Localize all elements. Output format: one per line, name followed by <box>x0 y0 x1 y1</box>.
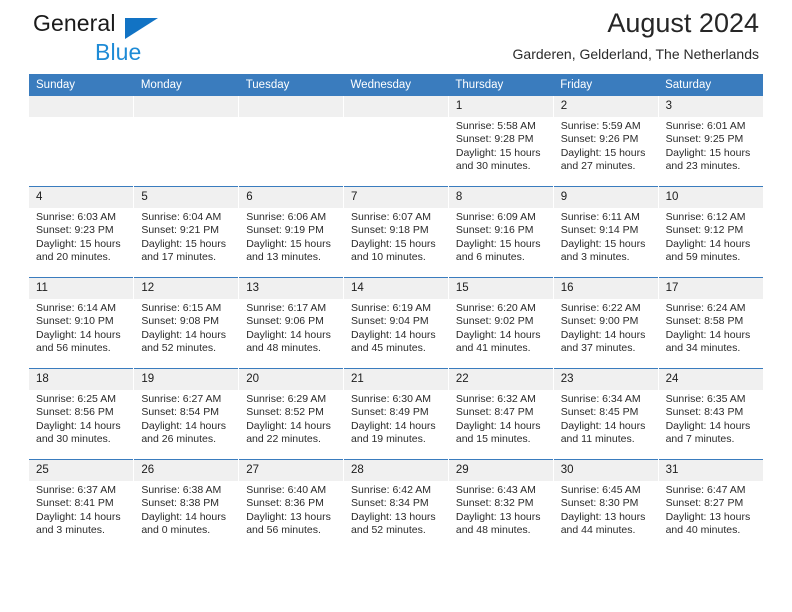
daylight-line-1: Daylight: 15 hours <box>666 147 757 160</box>
calendar-body: 1Sunrise: 5:58 AMSunset: 9:28 PMDaylight… <box>29 96 763 550</box>
sunrise-line: Sunrise: 6:30 AM <box>351 393 442 406</box>
week-row: 1Sunrise: 5:58 AMSunset: 9:28 PMDaylight… <box>29 96 763 187</box>
day-details: Sunrise: 6:06 AMSunset: 9:19 PMDaylight:… <box>239 208 343 265</box>
day-cell[interactable]: 15Sunrise: 6:20 AMSunset: 9:02 PMDayligh… <box>448 278 553 369</box>
day-number: 21 <box>344 369 448 390</box>
sunrise-line: Sunrise: 6:09 AM <box>456 211 547 224</box>
daylight-line-1: Daylight: 15 hours <box>456 147 547 160</box>
sunset-line: Sunset: 8:27 PM <box>666 497 757 510</box>
daylight-line-2: and 20 minutes. <box>36 251 127 264</box>
day-cell[interactable]: 13Sunrise: 6:17 AMSunset: 9:06 PMDayligh… <box>239 278 344 369</box>
day-cell[interactable]: 1Sunrise: 5:58 AMSunset: 9:28 PMDaylight… <box>448 96 553 187</box>
sunrise-line: Sunrise: 6:06 AM <box>246 211 337 224</box>
sunset-line: Sunset: 9:08 PM <box>141 315 232 328</box>
daylight-line-2: and 52 minutes. <box>351 524 442 537</box>
daylight-line-1: Daylight: 14 hours <box>666 329 757 342</box>
day-number: 31 <box>659 460 763 481</box>
day-details: Sunrise: 6:04 AMSunset: 9:21 PMDaylight:… <box>134 208 238 265</box>
daylight-line-2: and 37 minutes. <box>561 342 652 355</box>
day-cell[interactable]: 29Sunrise: 6:43 AMSunset: 8:32 PMDayligh… <box>448 460 553 551</box>
page-header: General Blue August 2024 Garderen, Gelde… <box>29 0 763 74</box>
general-blue-logo[interactable]: General Blue <box>33 12 283 70</box>
sunrise-line: Sunrise: 6:04 AM <box>141 211 232 224</box>
sunrise-line: Sunrise: 6:07 AM <box>351 211 442 224</box>
day-details <box>134 117 238 120</box>
day-number: 23 <box>554 369 658 390</box>
week-row: 11Sunrise: 6:14 AMSunset: 9:10 PMDayligh… <box>29 278 763 369</box>
daylight-line-2: and 19 minutes. <box>351 433 442 446</box>
sunset-line: Sunset: 8:45 PM <box>561 406 652 419</box>
sunset-line: Sunset: 9:06 PM <box>246 315 337 328</box>
day-cell[interactable]: 6Sunrise: 6:06 AMSunset: 9:19 PMDaylight… <box>239 187 344 278</box>
sunrise-line: Sunrise: 6:42 AM <box>351 484 442 497</box>
day-cell[interactable]: 19Sunrise: 6:27 AMSunset: 8:54 PMDayligh… <box>134 369 239 460</box>
day-cell[interactable]: 12Sunrise: 6:15 AMSunset: 9:08 PMDayligh… <box>134 278 239 369</box>
daylight-line-1: Daylight: 14 hours <box>456 420 547 433</box>
day-details: Sunrise: 6:03 AMSunset: 9:23 PMDaylight:… <box>29 208 133 265</box>
daylight-line-2: and 52 minutes. <box>141 342 232 355</box>
daylight-line-2: and 11 minutes. <box>561 433 652 446</box>
weekday-header-saturday: Saturday <box>658 74 763 96</box>
sunrise-line: Sunrise: 6:32 AM <box>456 393 547 406</box>
day-number <box>344 96 448 117</box>
day-number <box>134 96 238 117</box>
sunrise-line: Sunrise: 6:11 AM <box>561 211 652 224</box>
sunset-line: Sunset: 9:18 PM <box>351 224 442 237</box>
sunrise-line: Sunrise: 6:24 AM <box>666 302 757 315</box>
daylight-line-2: and 44 minutes. <box>561 524 652 537</box>
day-details: Sunrise: 6:11 AMSunset: 9:14 PMDaylight:… <box>554 208 658 265</box>
day-number: 19 <box>134 369 238 390</box>
day-number: 13 <box>239 278 343 299</box>
sunrise-sunset-calendar: Sunday Monday Tuesday Wednesday Thursday… <box>29 74 763 550</box>
day-cell[interactable]: 2Sunrise: 5:59 AMSunset: 9:26 PMDaylight… <box>553 96 658 187</box>
daylight-line-2: and 22 minutes. <box>246 433 337 446</box>
sunrise-line: Sunrise: 6:12 AM <box>666 211 757 224</box>
day-number: 2 <box>554 96 658 117</box>
day-details <box>29 117 133 120</box>
daylight-line-1: Daylight: 14 hours <box>246 420 337 433</box>
daylight-line-2: and 59 minutes. <box>666 251 757 264</box>
daylight-line-1: Daylight: 15 hours <box>141 238 232 251</box>
sunrise-line: Sunrise: 6:37 AM <box>36 484 127 497</box>
day-cell[interactable]: 25Sunrise: 6:37 AMSunset: 8:41 PMDayligh… <box>29 460 134 551</box>
day-details: Sunrise: 6:24 AMSunset: 8:58 PMDaylight:… <box>659 299 763 356</box>
daylight-line-1: Daylight: 14 hours <box>456 329 547 342</box>
day-cell[interactable]: 7Sunrise: 6:07 AMSunset: 9:18 PMDaylight… <box>344 187 449 278</box>
day-details: Sunrise: 6:32 AMSunset: 8:47 PMDaylight:… <box>449 390 553 447</box>
sunset-line: Sunset: 9:21 PM <box>141 224 232 237</box>
sunrise-line: Sunrise: 6:38 AM <box>141 484 232 497</box>
day-details <box>344 117 448 120</box>
daylight-line-2: and 26 minutes. <box>141 433 232 446</box>
daylight-line-1: Daylight: 14 hours <box>666 238 757 251</box>
daylight-line-1: Daylight: 15 hours <box>351 238 442 251</box>
daylight-line-2: and 56 minutes. <box>36 342 127 355</box>
day-number: 20 <box>239 369 343 390</box>
day-number: 17 <box>659 278 763 299</box>
daylight-line-1: Daylight: 15 hours <box>561 147 652 160</box>
day-cell[interactable]: 3Sunrise: 6:01 AMSunset: 9:25 PMDaylight… <box>658 96 763 187</box>
day-cell[interactable]: 21Sunrise: 6:30 AMSunset: 8:49 PMDayligh… <box>344 369 449 460</box>
day-details: Sunrise: 6:43 AMSunset: 8:32 PMDaylight:… <box>449 481 553 538</box>
sunset-line: Sunset: 9:28 PM <box>456 133 547 146</box>
daylight-line-2: and 40 minutes. <box>666 524 757 537</box>
daylight-line-2: and 30 minutes. <box>36 433 127 446</box>
day-cell[interactable]: 26Sunrise: 6:38 AMSunset: 8:38 PMDayligh… <box>134 460 239 551</box>
sunrise-line: Sunrise: 6:22 AM <box>561 302 652 315</box>
daylight-line-1: Daylight: 13 hours <box>456 511 547 524</box>
daylight-line-1: Daylight: 14 hours <box>666 420 757 433</box>
day-number: 30 <box>554 460 658 481</box>
weekday-header-wednesday: Wednesday <box>344 74 449 96</box>
title-block: August 2024 Garderen, Gelderland, The Ne… <box>513 6 759 65</box>
daylight-line-2: and 30 minutes. <box>456 160 547 173</box>
day-number: 9 <box>554 187 658 208</box>
sunrise-line: Sunrise: 5:59 AM <box>561 120 652 133</box>
daylight-line-1: Daylight: 14 hours <box>351 329 442 342</box>
daylight-line-1: Daylight: 13 hours <box>246 511 337 524</box>
sunrise-line: Sunrise: 6:34 AM <box>561 393 652 406</box>
sunset-line: Sunset: 8:38 PM <box>141 497 232 510</box>
sunset-line: Sunset: 9:25 PM <box>666 133 757 146</box>
sunrise-line: Sunrise: 6:40 AM <box>246 484 337 497</box>
daylight-line-1: Daylight: 14 hours <box>561 329 652 342</box>
day-number: 3 <box>659 96 763 117</box>
day-details: Sunrise: 6:22 AMSunset: 9:00 PMDaylight:… <box>554 299 658 356</box>
day-number: 25 <box>29 460 133 481</box>
day-details: Sunrise: 6:01 AMSunset: 9:25 PMDaylight:… <box>659 117 763 174</box>
page-title: August 2024 <box>513 6 759 40</box>
week-row: 18Sunrise: 6:25 AMSunset: 8:56 PMDayligh… <box>29 369 763 460</box>
sunset-line: Sunset: 9:10 PM <box>36 315 127 328</box>
day-cell[interactable]: 8Sunrise: 6:09 AMSunset: 9:16 PMDaylight… <box>448 187 553 278</box>
daylight-line-2: and 13 minutes. <box>246 251 337 264</box>
day-details: Sunrise: 6:15 AMSunset: 9:08 PMDaylight:… <box>134 299 238 356</box>
day-details: Sunrise: 6:40 AMSunset: 8:36 PMDaylight:… <box>239 481 343 538</box>
daylight-line-2: and 3 minutes. <box>36 524 127 537</box>
sunset-line: Sunset: 9:04 PM <box>351 315 442 328</box>
daylight-line-2: and 17 minutes. <box>141 251 232 264</box>
day-cell[interactable]: 5Sunrise: 6:04 AMSunset: 9:21 PMDaylight… <box>134 187 239 278</box>
week-row: 4Sunrise: 6:03 AMSunset: 9:23 PMDaylight… <box>29 187 763 278</box>
sunset-line: Sunset: 9:02 PM <box>456 315 547 328</box>
sunrise-line: Sunrise: 6:27 AM <box>141 393 232 406</box>
sunrise-line: Sunrise: 6:01 AM <box>666 120 757 133</box>
sunset-line: Sunset: 8:47 PM <box>456 406 547 419</box>
day-details: Sunrise: 6:37 AMSunset: 8:41 PMDaylight:… <box>29 481 133 538</box>
day-details: Sunrise: 6:19 AMSunset: 9:04 PMDaylight:… <box>344 299 448 356</box>
sunset-line: Sunset: 9:12 PM <box>666 224 757 237</box>
daylight-line-2: and 3 minutes. <box>561 251 652 264</box>
sunset-line: Sunset: 8:56 PM <box>36 406 127 419</box>
daylight-line-2: and 15 minutes. <box>456 433 547 446</box>
day-number: 10 <box>659 187 763 208</box>
day-details: Sunrise: 6:38 AMSunset: 8:38 PMDaylight:… <box>134 481 238 538</box>
daylight-line-1: Daylight: 14 hours <box>141 420 232 433</box>
daylight-line-1: Daylight: 14 hours <box>141 329 232 342</box>
sunset-line: Sunset: 9:00 PM <box>561 315 652 328</box>
day-cell[interactable]: 10Sunrise: 6:12 AMSunset: 9:12 PMDayligh… <box>658 187 763 278</box>
sunrise-line: Sunrise: 6:43 AM <box>456 484 547 497</box>
logo-text-blue: Blue <box>95 41 283 64</box>
daylight-line-2: and 7 minutes. <box>666 433 757 446</box>
calendar-page: General Blue August 2024 Garderen, Gelde… <box>0 0 792 612</box>
weekday-header-thursday: Thursday <box>448 74 553 96</box>
day-number: 22 <box>449 369 553 390</box>
daylight-line-1: Daylight: 14 hours <box>36 329 127 342</box>
sunrise-line: Sunrise: 6:19 AM <box>351 302 442 315</box>
day-number: 12 <box>134 278 238 299</box>
weekday-header-row: Sunday Monday Tuesday Wednesday Thursday… <box>29 74 763 96</box>
day-details: Sunrise: 6:42 AMSunset: 8:34 PMDaylight:… <box>344 481 448 538</box>
daylight-line-2: and 48 minutes. <box>246 342 337 355</box>
sunset-line: Sunset: 8:34 PM <box>351 497 442 510</box>
daylight-line-1: Daylight: 15 hours <box>561 238 652 251</box>
daylight-line-2: and 10 minutes. <box>351 251 442 264</box>
day-details: Sunrise: 6:07 AMSunset: 9:18 PMDaylight:… <box>344 208 448 265</box>
daylight-line-2: and 48 minutes. <box>456 524 547 537</box>
sunset-line: Sunset: 8:30 PM <box>561 497 652 510</box>
day-number: 16 <box>554 278 658 299</box>
sunset-line: Sunset: 8:49 PM <box>351 406 442 419</box>
day-details: Sunrise: 6:20 AMSunset: 9:02 PMDaylight:… <box>449 299 553 356</box>
day-details: Sunrise: 6:25 AMSunset: 8:56 PMDaylight:… <box>29 390 133 447</box>
sunrise-line: Sunrise: 6:35 AM <box>666 393 757 406</box>
daylight-line-2: and 6 minutes. <box>456 251 547 264</box>
day-cell[interactable]: 24Sunrise: 6:35 AMSunset: 8:43 PMDayligh… <box>658 369 763 460</box>
day-cell[interactable] <box>344 96 449 187</box>
sunset-line: Sunset: 8:43 PM <box>666 406 757 419</box>
weekday-header-tuesday: Tuesday <box>239 74 344 96</box>
day-cell[interactable]: 27Sunrise: 6:40 AMSunset: 8:36 PMDayligh… <box>239 460 344 551</box>
day-number: 24 <box>659 369 763 390</box>
sunset-line: Sunset: 9:16 PM <box>456 224 547 237</box>
daylight-line-2: and 45 minutes. <box>351 342 442 355</box>
day-cell[interactable]: 18Sunrise: 6:25 AMSunset: 8:56 PMDayligh… <box>29 369 134 460</box>
sunset-line: Sunset: 9:19 PM <box>246 224 337 237</box>
week-row: 25Sunrise: 6:37 AMSunset: 8:41 PMDayligh… <box>29 460 763 551</box>
daylight-line-1: Daylight: 14 hours <box>246 329 337 342</box>
sunset-line: Sunset: 8:52 PM <box>246 406 337 419</box>
sunset-line: Sunset: 8:41 PM <box>36 497 127 510</box>
day-number: 7 <box>344 187 448 208</box>
day-number: 1 <box>449 96 553 117</box>
daylight-line-1: Daylight: 13 hours <box>561 511 652 524</box>
sunset-line: Sunset: 8:32 PM <box>456 497 547 510</box>
day-number: 28 <box>344 460 448 481</box>
day-cell[interactable]: 17Sunrise: 6:24 AMSunset: 8:58 PMDayligh… <box>658 278 763 369</box>
day-details: Sunrise: 5:59 AMSunset: 9:26 PMDaylight:… <box>554 117 658 174</box>
day-cell[interactable]: 4Sunrise: 6:03 AMSunset: 9:23 PMDaylight… <box>29 187 134 278</box>
day-details <box>239 117 343 120</box>
day-cell[interactable]: 16Sunrise: 6:22 AMSunset: 9:00 PMDayligh… <box>553 278 658 369</box>
day-cell[interactable]: 22Sunrise: 6:32 AMSunset: 8:47 PMDayligh… <box>448 369 553 460</box>
day-number: 11 <box>29 278 133 299</box>
day-details: Sunrise: 6:34 AMSunset: 8:45 PMDaylight:… <box>554 390 658 447</box>
sunrise-line: Sunrise: 5:58 AM <box>456 120 547 133</box>
triangle-icon <box>125 18 158 39</box>
day-details: Sunrise: 6:45 AMSunset: 8:30 PMDaylight:… <box>554 481 658 538</box>
day-number: 8 <box>449 187 553 208</box>
daylight-line-1: Daylight: 13 hours <box>666 511 757 524</box>
day-cell[interactable]: 14Sunrise: 6:19 AMSunset: 9:04 PMDayligh… <box>344 278 449 369</box>
day-number: 6 <box>239 187 343 208</box>
day-details: Sunrise: 6:27 AMSunset: 8:54 PMDaylight:… <box>134 390 238 447</box>
day-number: 26 <box>134 460 238 481</box>
day-number: 4 <box>29 187 133 208</box>
sunset-line: Sunset: 8:36 PM <box>246 497 337 510</box>
daylight-line-1: Daylight: 15 hours <box>246 238 337 251</box>
sunrise-line: Sunrise: 6:47 AM <box>666 484 757 497</box>
day-details: Sunrise: 6:17 AMSunset: 9:06 PMDaylight:… <box>239 299 343 356</box>
daylight-line-1: Daylight: 13 hours <box>351 511 442 524</box>
day-number: 15 <box>449 278 553 299</box>
day-details: Sunrise: 6:35 AMSunset: 8:43 PMDaylight:… <box>659 390 763 447</box>
sunset-line: Sunset: 8:58 PM <box>666 315 757 328</box>
daylight-line-1: Daylight: 14 hours <box>561 420 652 433</box>
sunset-line: Sunset: 8:54 PM <box>141 406 232 419</box>
day-number: 29 <box>449 460 553 481</box>
day-number: 14 <box>344 278 448 299</box>
daylight-line-2: and 41 minutes. <box>456 342 547 355</box>
logo-text-general: General <box>33 12 283 38</box>
sunrise-line: Sunrise: 6:15 AM <box>141 302 232 315</box>
weekday-header-friday: Friday <box>553 74 658 96</box>
day-details: Sunrise: 5:58 AMSunset: 9:28 PMDaylight:… <box>449 117 553 174</box>
sunrise-line: Sunrise: 6:45 AM <box>561 484 652 497</box>
day-details: Sunrise: 6:09 AMSunset: 9:16 PMDaylight:… <box>449 208 553 265</box>
day-cell[interactable] <box>29 96 134 187</box>
day-number: 5 <box>134 187 238 208</box>
day-cell[interactable]: 23Sunrise: 6:34 AMSunset: 8:45 PMDayligh… <box>553 369 658 460</box>
day-number <box>239 96 343 117</box>
day-details: Sunrise: 6:47 AMSunset: 8:27 PMDaylight:… <box>659 481 763 538</box>
sunrise-line: Sunrise: 6:14 AM <box>36 302 127 315</box>
daylight-line-2: and 0 minutes. <box>141 524 232 537</box>
day-cell[interactable]: 31Sunrise: 6:47 AMSunset: 8:27 PMDayligh… <box>658 460 763 551</box>
day-cell[interactable]: 9Sunrise: 6:11 AMSunset: 9:14 PMDaylight… <box>553 187 658 278</box>
sunrise-line: Sunrise: 6:25 AM <box>36 393 127 406</box>
day-details: Sunrise: 6:12 AMSunset: 9:12 PMDaylight:… <box>659 208 763 265</box>
daylight-line-2: and 56 minutes. <box>246 524 337 537</box>
day-details: Sunrise: 6:29 AMSunset: 8:52 PMDaylight:… <box>239 390 343 447</box>
day-details: Sunrise: 6:30 AMSunset: 8:49 PMDaylight:… <box>344 390 448 447</box>
sunset-line: Sunset: 9:14 PM <box>561 224 652 237</box>
weekday-header-sunday: Sunday <box>29 74 134 96</box>
daylight-line-2: and 23 minutes. <box>666 160 757 173</box>
page-subtitle: Garderen, Gelderland, The Netherlands <box>513 43 759 65</box>
day-cell[interactable]: 11Sunrise: 6:14 AMSunset: 9:10 PMDayligh… <box>29 278 134 369</box>
daylight-line-1: Daylight: 15 hours <box>36 238 127 251</box>
day-cell[interactable]: 28Sunrise: 6:42 AMSunset: 8:34 PMDayligh… <box>344 460 449 551</box>
sunrise-line: Sunrise: 6:20 AM <box>456 302 547 315</box>
sunrise-line: Sunrise: 6:17 AM <box>246 302 337 315</box>
daylight-line-1: Daylight: 15 hours <box>456 238 547 251</box>
day-cell[interactable] <box>134 96 239 187</box>
day-number: 18 <box>29 369 133 390</box>
sunrise-line: Sunrise: 6:03 AM <box>36 211 127 224</box>
weekday-header-monday: Monday <box>134 74 239 96</box>
day-cell[interactable]: 30Sunrise: 6:45 AMSunset: 8:30 PMDayligh… <box>553 460 658 551</box>
daylight-line-1: Daylight: 14 hours <box>36 420 127 433</box>
daylight-line-1: Daylight: 14 hours <box>141 511 232 524</box>
sunset-line: Sunset: 9:23 PM <box>36 224 127 237</box>
sunrise-line: Sunrise: 6:29 AM <box>246 393 337 406</box>
day-number <box>29 96 133 117</box>
daylight-line-1: Daylight: 14 hours <box>36 511 127 524</box>
day-cell[interactable] <box>239 96 344 187</box>
day-details: Sunrise: 6:14 AMSunset: 9:10 PMDaylight:… <box>29 299 133 356</box>
day-cell[interactable]: 20Sunrise: 6:29 AMSunset: 8:52 PMDayligh… <box>239 369 344 460</box>
day-number: 27 <box>239 460 343 481</box>
sunset-line: Sunset: 9:26 PM <box>561 133 652 146</box>
daylight-line-2: and 27 minutes. <box>561 160 652 173</box>
daylight-line-1: Daylight: 14 hours <box>351 420 442 433</box>
daylight-line-2: and 34 minutes. <box>666 342 757 355</box>
